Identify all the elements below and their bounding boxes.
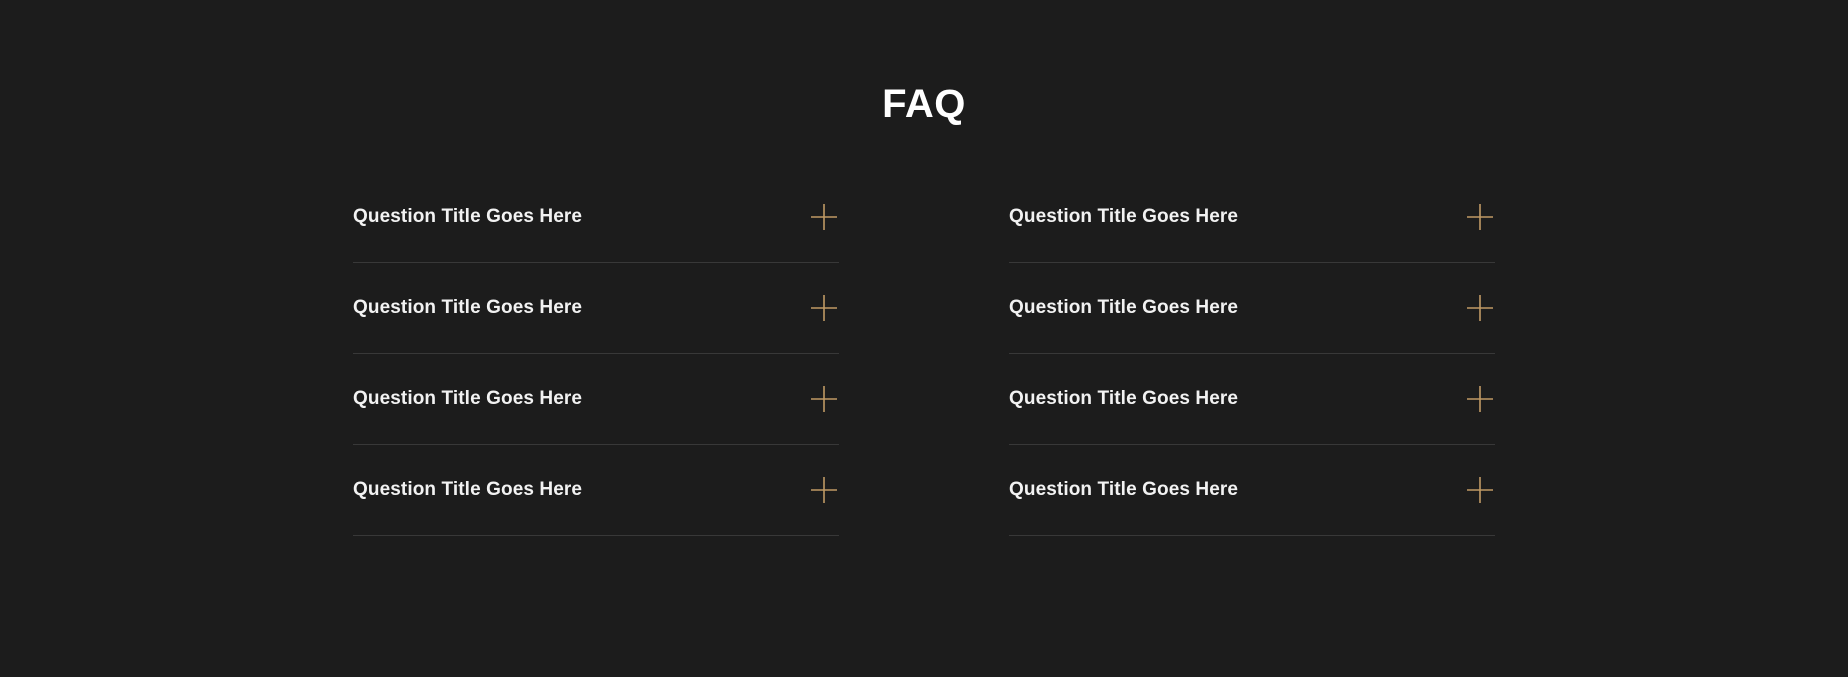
faq-question-title: Question Title Goes Here: [1009, 205, 1238, 230]
plus-icon[interactable]: [810, 385, 838, 413]
faq-question-title: Question Title Goes Here: [353, 296, 582, 321]
faq-item[interactable]: Question Title Goes Here: [1009, 172, 1495, 263]
plus-icon[interactable]: [1466, 385, 1494, 413]
faq-item[interactable]: Question Title Goes Here: [353, 263, 839, 354]
page-title: FAQ: [0, 0, 1848, 124]
plus-icon[interactable]: [1466, 476, 1494, 504]
faq-item[interactable]: Question Title Goes Here: [353, 445, 839, 536]
faq-question-title: Question Title Goes Here: [353, 478, 582, 503]
plus-icon[interactable]: [810, 476, 838, 504]
faq-item[interactable]: Question Title Goes Here: [353, 354, 839, 445]
plus-icon[interactable]: [1466, 294, 1494, 322]
faq-grid: Question Title Goes Here Question Title …: [353, 124, 1495, 536]
plus-icon[interactable]: [810, 294, 838, 322]
faq-column-right: Question Title Goes Here Question Title …: [1009, 172, 1495, 536]
plus-icon[interactable]: [810, 203, 838, 231]
faq-section: FAQ Question Title Goes Here Question Ti…: [0, 0, 1848, 677]
faq-item[interactable]: Question Title Goes Here: [1009, 354, 1495, 445]
faq-question-title: Question Title Goes Here: [353, 387, 582, 412]
faq-item[interactable]: Question Title Goes Here: [353, 172, 839, 263]
faq-question-title: Question Title Goes Here: [353, 205, 582, 230]
plus-icon[interactable]: [1466, 203, 1494, 231]
faq-item[interactable]: Question Title Goes Here: [1009, 263, 1495, 354]
faq-column-left: Question Title Goes Here Question Title …: [353, 172, 839, 536]
faq-item[interactable]: Question Title Goes Here: [1009, 445, 1495, 536]
faq-question-title: Question Title Goes Here: [1009, 478, 1238, 503]
faq-question-title: Question Title Goes Here: [1009, 296, 1238, 321]
faq-question-title: Question Title Goes Here: [1009, 387, 1238, 412]
